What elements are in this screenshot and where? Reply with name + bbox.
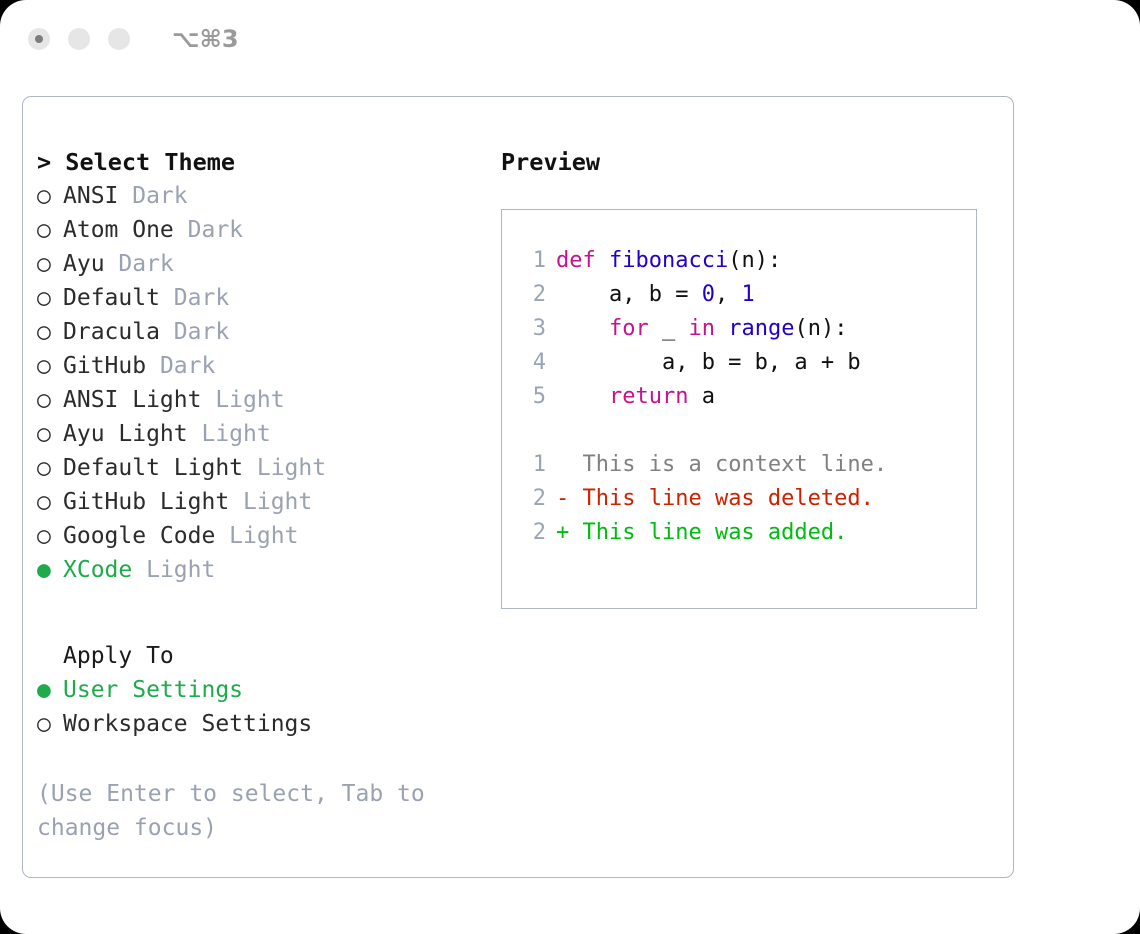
code-line-content: for _ in range(n): xyxy=(556,316,847,341)
code-token: _ xyxy=(649,316,689,341)
theme-name-label: GitHub xyxy=(63,353,146,379)
theme-list-item[interactable]: ○Default Dark xyxy=(37,281,497,315)
theme-list[interactable]: ○ANSI Dark○Atom One Dark○Ayu Dark○Defaul… xyxy=(37,179,497,587)
theme-name-label: Default xyxy=(63,285,160,311)
keyboard-hint-text: (Use Enter to select, Tab to change focu… xyxy=(37,777,447,845)
diff-sign xyxy=(556,452,569,477)
code-line-number: 1 xyxy=(516,244,546,278)
select-theme-heading: > Select Theme xyxy=(37,145,497,179)
theme-list-column: > Select Theme ○ANSI Dark○Atom One Dark○… xyxy=(37,145,497,845)
theme-kind-label: Dark xyxy=(146,353,215,379)
code-token: 0 xyxy=(702,282,715,307)
apply-to-option-list[interactable]: ●User Settings○Workspace Settings xyxy=(37,673,497,741)
code-token xyxy=(556,316,609,341)
theme-list-item[interactable]: ○ANSI Light Light xyxy=(37,383,497,417)
code-line-content: return a xyxy=(556,384,715,409)
diff-line-number: 1 xyxy=(516,448,546,482)
theme-list-item[interactable]: ○Ayu Light Light xyxy=(37,417,497,451)
theme-list-item[interactable]: ●XCode Light xyxy=(37,553,497,587)
theme-name-label: Default Light xyxy=(63,455,243,481)
code-token: a, b = xyxy=(556,282,702,307)
code-token: , xyxy=(715,282,742,307)
apply-to-section: Apply To ●User Settings○Workspace Settin… xyxy=(37,639,497,741)
theme-name-label: ANSI xyxy=(63,183,118,209)
code-line-content: a, b = 0, 1 xyxy=(556,282,755,307)
theme-list-item[interactable]: ○Ayu Dark xyxy=(37,247,497,281)
preview-heading: Preview xyxy=(501,145,1001,179)
radio-unselected-icon: ○ xyxy=(37,281,63,315)
theme-name-label: ANSI Light xyxy=(63,387,201,413)
diff-line: 1 This is a context line. xyxy=(516,448,976,482)
radio-unselected-icon: ○ xyxy=(37,383,63,417)
theme-list-item[interactable]: ○GitHub Light Light xyxy=(37,485,497,519)
code-token: for xyxy=(609,316,649,341)
theme-kind-label: Light xyxy=(229,489,312,515)
theme-kind-label: Dark xyxy=(174,217,243,243)
diff-line: 2+ This line was added. xyxy=(516,516,976,550)
theme-name-label: Ayu Light xyxy=(63,421,188,447)
code-line: 3 for _ in range(n): xyxy=(516,312,976,346)
theme-list-item[interactable]: ○Default Light Light xyxy=(37,451,497,485)
theme-name-label: XCode xyxy=(63,557,132,583)
theme-name-label: Dracula xyxy=(63,319,160,345)
code-token xyxy=(715,316,728,341)
theme-list-item[interactable]: ○Google Code Light xyxy=(37,519,497,553)
radio-unselected-icon: ○ xyxy=(37,247,63,281)
code-token: a xyxy=(688,384,715,409)
radio-unselected-icon: ○ xyxy=(37,349,63,383)
diff-text: This line was added. xyxy=(569,520,847,545)
radio-unselected-icon: ○ xyxy=(37,213,63,247)
theme-kind-label: Light xyxy=(243,455,326,481)
theme-list-item[interactable]: ○Dracula Dark xyxy=(37,315,497,349)
apply-to-option-label: User Settings xyxy=(63,677,243,703)
code-sample: 1def fibonacci(n):2 a, b = 0, 13 for _ i… xyxy=(516,244,976,414)
code-line-number: 2 xyxy=(516,278,546,312)
diff-line: 2- This line was deleted. xyxy=(516,482,976,516)
code-line-number: 4 xyxy=(516,346,546,380)
diff-sign: + xyxy=(556,520,569,545)
diff-line-number: 2 xyxy=(516,516,546,550)
theme-list-item[interactable]: ○ANSI Dark xyxy=(37,179,497,213)
code-token: in xyxy=(688,316,715,341)
theme-kind-label: Dark xyxy=(160,285,229,311)
code-token: def xyxy=(556,248,596,273)
theme-kind-label: Dark xyxy=(118,183,187,209)
code-token xyxy=(556,384,609,409)
apply-to-option[interactable]: ●User Settings xyxy=(37,673,497,707)
code-token: 1 xyxy=(741,282,754,307)
code-token: (n): xyxy=(794,316,847,341)
theme-kind-label: Light xyxy=(201,387,284,413)
diff-text: This line was deleted. xyxy=(569,486,874,511)
theme-name-label: Ayu xyxy=(63,251,105,277)
code-line: 2 a, b = 0, 1 xyxy=(516,278,976,312)
window-minimize-dot[interactable] xyxy=(68,28,90,50)
code-line: 1def fibonacci(n): xyxy=(516,244,976,278)
theme-kind-label: Light xyxy=(188,421,271,447)
theme-name-label: Google Code xyxy=(63,523,215,549)
code-token: return xyxy=(609,384,688,409)
radio-unselected-icon: ○ xyxy=(37,179,63,213)
theme-kind-label: Dark xyxy=(105,251,174,277)
theme-name-label: GitHub Light xyxy=(63,489,229,515)
radio-unselected-icon: ○ xyxy=(37,451,63,485)
theme-kind-label: Light xyxy=(132,557,215,583)
code-line-content: def fibonacci(n): xyxy=(556,248,781,273)
radio-selected-icon: ● xyxy=(37,553,63,587)
radio-unselected-icon: ○ xyxy=(37,519,63,553)
apply-to-option-label: Workspace Settings xyxy=(63,711,312,737)
radio-unselected-icon: ○ xyxy=(37,485,63,519)
preview-spacer xyxy=(516,414,976,448)
apply-to-option[interactable]: ○Workspace Settings xyxy=(37,707,497,741)
code-line: 5 return a xyxy=(516,380,976,414)
diff-sign: - xyxy=(556,486,569,511)
window-maximize-dot[interactable] xyxy=(108,28,130,50)
theme-kind-label: Light xyxy=(215,523,298,549)
code-token: (n): xyxy=(728,248,781,273)
code-token: fibonacci xyxy=(609,248,728,273)
code-line-number: 5 xyxy=(516,380,546,414)
preview-box: 1def fibonacci(n):2 a, b = 0, 13 for _ i… xyxy=(501,209,977,609)
radio-unselected-icon: ○ xyxy=(37,417,63,451)
keyboard-shortcut-label: ⌥⌘3 xyxy=(172,25,239,53)
diff-sample: 1 This is a context line.2- This line wa… xyxy=(516,448,976,550)
diff-line-content: This is a context line. xyxy=(556,452,887,477)
radio-unselected-icon: ○ xyxy=(37,315,63,349)
app-window: ⌥⌘3 > Select Theme ○ANSI Dark○Atom One D… xyxy=(0,0,1140,934)
title-bar: ⌥⌘3 xyxy=(0,0,1140,78)
window-close-dot[interactable] xyxy=(28,28,50,50)
preview-column: Preview 1def fibonacci(n):2 a, b = 0, 13… xyxy=(501,145,1001,609)
apply-to-heading: Apply To xyxy=(37,639,497,673)
code-line-number: 3 xyxy=(516,312,546,346)
theme-list-item[interactable]: ○GitHub Dark xyxy=(37,349,497,383)
theme-name-label: Atom One xyxy=(63,217,174,243)
theme-picker-panel: > Select Theme ○ANSI Dark○Atom One Dark○… xyxy=(22,96,1014,878)
theme-kind-label: Dark xyxy=(160,319,229,345)
code-token: range xyxy=(728,316,794,341)
diff-line-number: 2 xyxy=(516,482,546,516)
diff-line-content: + This line was added. xyxy=(556,520,847,545)
code-token: a, b = b, a + b xyxy=(556,350,861,375)
code-line: 4 a, b = b, a + b xyxy=(516,346,976,380)
diff-text: This is a context line. xyxy=(569,452,887,477)
radio-selected-icon: ● xyxy=(37,673,63,707)
diff-line-content: - This line was deleted. xyxy=(556,486,874,511)
theme-list-item[interactable]: ○Atom One Dark xyxy=(37,213,497,247)
code-line-content: a, b = b, a + b xyxy=(556,350,861,375)
radio-unselected-icon: ○ xyxy=(37,707,63,741)
code-token xyxy=(596,248,609,273)
